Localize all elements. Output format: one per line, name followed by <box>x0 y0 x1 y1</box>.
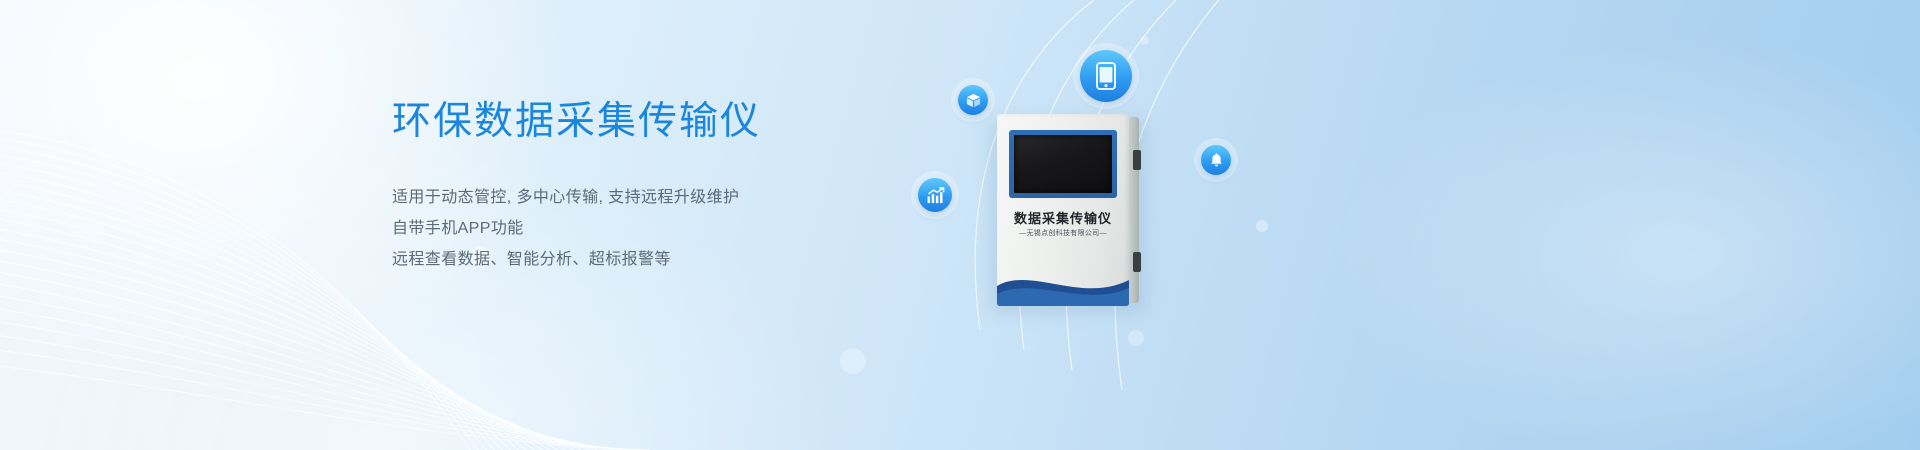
device-right-side-panel <box>1129 117 1139 303</box>
mobile-phone-icon <box>1080 50 1132 102</box>
package-box-icon <box>958 85 988 115</box>
product-hero-banner: 环保数据采集传输仪 适用于动态管控, 多中心传输, 支持远程升级维护 自带手机A… <box>0 0 1920 450</box>
device-screen-bezel <box>1009 130 1117 198</box>
device-side-connector-bottom <box>1133 252 1141 272</box>
hero-copy: 环保数据采集传输仪 适用于动态管控, 多中心传输, 支持远程升级维护 自带手机A… <box>392 96 952 275</box>
device-front-panel: 数据采集传输仪 —无锡点创科技有限公司— <box>997 114 1129 306</box>
bar-chart-growth-icon <box>918 178 952 212</box>
decorative-bubbles <box>0 0 1920 450</box>
device-screen <box>1014 135 1112 193</box>
feature-item: 远程查看数据、智能分析、超标报警等 <box>392 244 952 275</box>
device-side-connector-top <box>1133 150 1141 170</box>
device-company-label: —无锡点创科技有限公司— <box>997 228 1129 238</box>
background-glow-right <box>1340 40 1920 450</box>
device-model-label: 数据采集传输仪 <box>997 208 1129 227</box>
feature-list: 适用于动态管控, 多中心传输, 支持远程升级维护 自带手机APP功能 远程查看数… <box>392 182 952 275</box>
alarm-bell-icon <box>1201 145 1231 175</box>
device-product-image: 数据采集传输仪 —无锡点创科技有限公司— <box>997 114 1139 306</box>
page-title: 环保数据采集传输仪 <box>392 96 952 148</box>
feature-item: 自带手机APP功能 <box>392 213 952 244</box>
device-bottom-wave-decor <box>997 260 1129 306</box>
feature-item: 适用于动态管控, 多中心传输, 支持远程升级维护 <box>392 182 952 213</box>
